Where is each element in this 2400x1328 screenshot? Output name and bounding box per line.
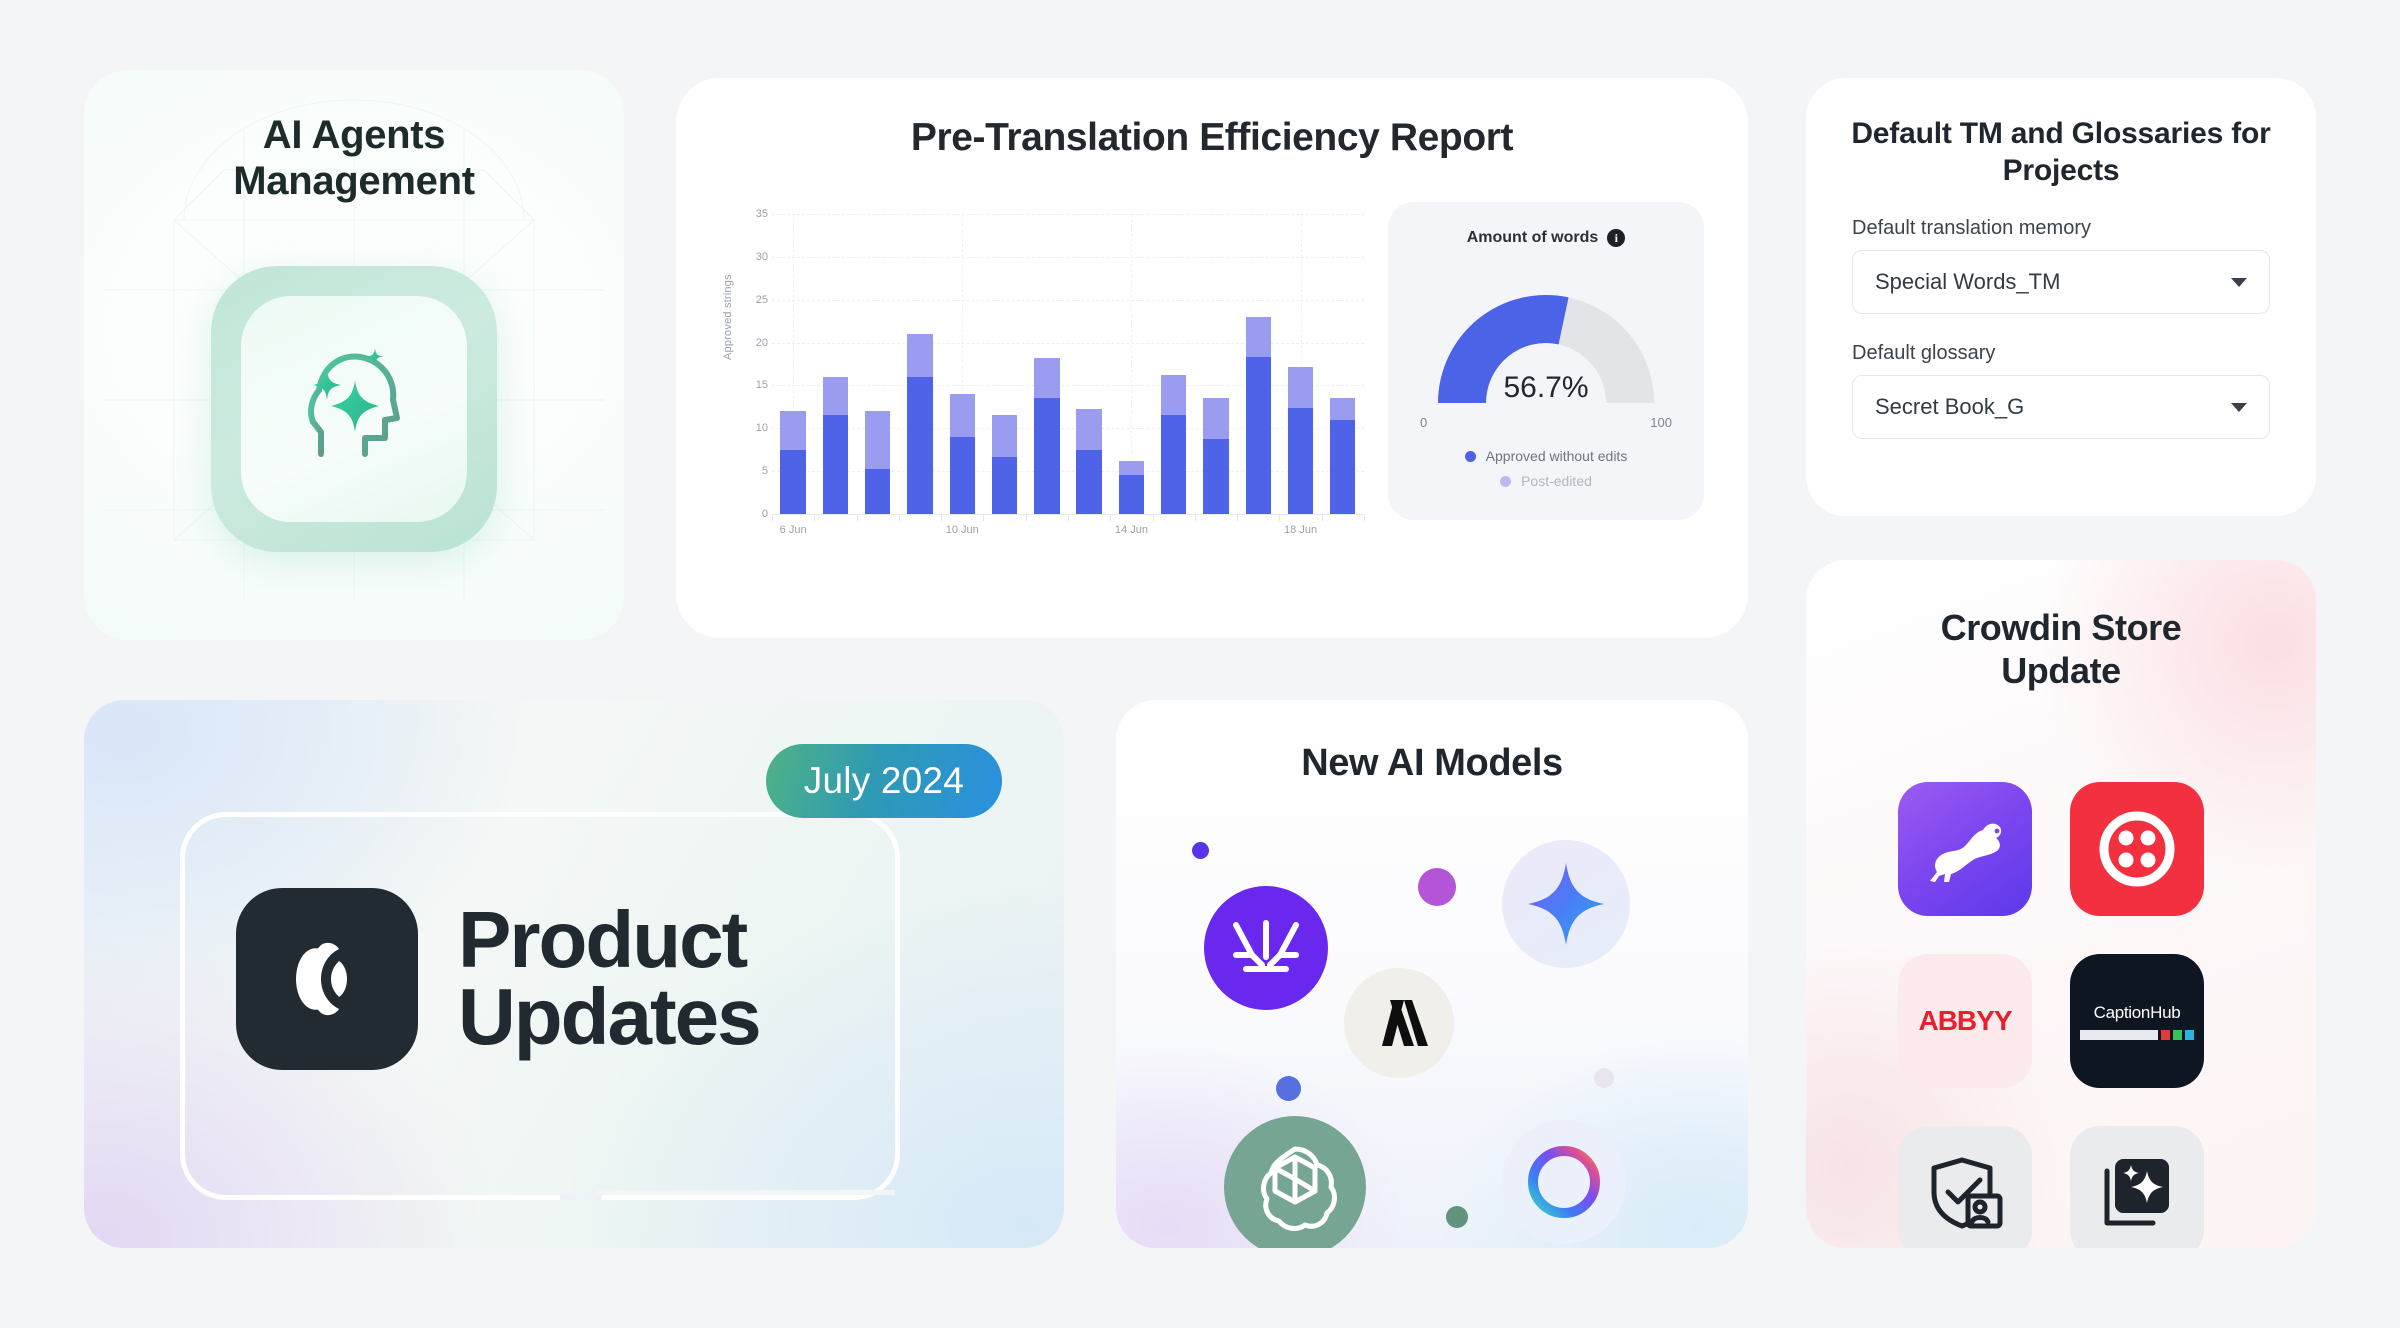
bar-segment-post-edited <box>823 377 848 416</box>
new-ai-models-title: New AI Models <box>1116 742 1748 785</box>
x-axis-tick <box>1110 515 1111 521</box>
crowdin-store-title-line-1: Crowdin Store <box>1862 606 2260 649</box>
product-updates-collage: AI Agents Management <box>0 0 2400 1328</box>
bar-slot[interactable] <box>1322 214 1364 514</box>
x-axis-label: 6 Jun <box>780 524 807 536</box>
bar-segment-approved <box>1203 439 1228 514</box>
abbyy-wordmark: ABBYY <box>1918 1005 2011 1037</box>
bar-segment-post-edited <box>907 334 932 377</box>
y-axis-tick: 25 <box>740 294 768 306</box>
decorative-dot-violet <box>1192 842 1209 859</box>
legend-item-post-edited: Post-edited <box>1388 473 1704 489</box>
info-icon[interactable]: i <box>1607 229 1625 247</box>
bar-segment-approved <box>1161 415 1186 514</box>
default-translation-memory-value: Special Words_TM <box>1875 269 2060 295</box>
ai-agents-management-card[interactable]: AI Agents Management <box>84 70 624 640</box>
pre-translation-efficiency-card[interactable]: Pre-Translation Efficiency Report Approv… <box>676 78 1748 638</box>
x-axis-tick <box>1195 515 1196 521</box>
default-translation-memory-field: Default translation memory Special Words… <box>1806 217 2316 314</box>
y-axis-ticks: 05101520253035 <box>740 214 768 514</box>
x-axis-tick <box>1279 515 1280 521</box>
decorative-dot-blue <box>1276 1076 1301 1101</box>
y-axis-tick: 20 <box>740 337 768 349</box>
gauge-legend: Approved without edits Post-edited <box>1388 448 1704 489</box>
stacked-bar[interactable] <box>780 411 805 514</box>
bar-slot[interactable] <box>1237 214 1279 514</box>
bar-segment-post-edited <box>1330 398 1355 419</box>
stacked-bar[interactable] <box>1076 409 1101 514</box>
sparkle-document-icon[interactable] <box>2070 1126 2204 1248</box>
bar-series-container <box>772 214 1364 514</box>
bar-segment-approved <box>992 457 1017 514</box>
bar-slot[interactable] <box>899 214 941 514</box>
bar-slot[interactable] <box>941 214 983 514</box>
gauge-value: 56.7% <box>1420 371 1672 405</box>
bar-segment-approved <box>865 469 890 514</box>
amount-of-words-gauge-panel[interactable]: Amount of words i 56.7% 0 100 <box>1388 202 1704 520</box>
captionhub-bar <box>2080 1030 2194 1040</box>
legend-label-approved: Approved without edits <box>1486 448 1628 464</box>
stacked-bar[interactable] <box>1161 375 1186 514</box>
y-axis-tick: 5 <box>740 465 768 477</box>
bar-segment-post-edited <box>992 415 1017 456</box>
bar-slot[interactable] <box>1153 214 1195 514</box>
decorative-dot-green <box>1446 1206 1468 1228</box>
captionhub-app-icon[interactable]: CaptionHub <box>2070 954 2204 1088</box>
x-axis-tick <box>1026 515 1027 521</box>
twilio-app-icon[interactable] <box>2070 782 2204 916</box>
bar-segment-approved <box>907 377 932 514</box>
new-ai-models-card[interactable]: New AI Models <box>1116 700 1748 1248</box>
bar-segment-post-edited <box>1203 398 1228 439</box>
bar-slot[interactable] <box>1279 214 1321 514</box>
bar-segment-post-edited <box>1034 358 1059 398</box>
gauge-min-label: 0 <box>1420 415 1427 430</box>
ai-agent-icon-shell <box>211 266 497 552</box>
stacked-bar[interactable] <box>865 411 890 514</box>
default-tm-glossaries-card[interactable]: Default TM and Glossaries for Projects D… <box>1806 78 2316 516</box>
ai-head-sparkle-icon <box>279 334 429 484</box>
captionhub-swatch-green <box>2173 1030 2182 1040</box>
y-axis-tick: 10 <box>740 422 768 434</box>
captionhub-content: CaptionHub <box>2070 1003 2204 1040</box>
gauge-title-text: Amount of words <box>1467 229 1599 247</box>
bar-slot[interactable] <box>857 214 899 514</box>
store-apps-grid: ABBYY CaptionHub <box>1898 782 2204 1248</box>
product-updates-title-line-1: Product <box>458 902 760 979</box>
legend-dot-post-edited <box>1500 476 1511 487</box>
product-updates-title: Product Updates <box>458 902 760 1056</box>
captionhub-bar-white <box>2080 1030 2158 1040</box>
product-updates-row: Product Updates <box>236 888 760 1070</box>
legend-dot-approved <box>1465 451 1476 462</box>
gemini-sparkle-icon <box>1502 840 1630 968</box>
bar-slot[interactable] <box>1026 214 1068 514</box>
crowdin-store-title: Crowdin Store Update <box>1806 560 2316 692</box>
legend-label-post-edited: Post-edited <box>1521 473 1592 489</box>
x-axis-tick <box>1153 515 1154 521</box>
default-glossary-select[interactable]: Secret Book_G <box>1852 375 2270 439</box>
ai-agents-title-line-2: Management <box>84 158 624 204</box>
bar-segment-approved <box>950 437 975 514</box>
x-axis-tick <box>857 515 858 521</box>
default-glossary-label: Default glossary <box>1852 342 2270 365</box>
y-axis-tick: 30 <box>740 251 768 263</box>
bar-segment-post-edited <box>950 394 975 437</box>
bar-segment-post-edited <box>865 411 890 468</box>
captionhub-swatch-red <box>2161 1030 2170 1040</box>
stacked-bar[interactable] <box>1034 358 1059 514</box>
bar-segment-approved <box>1034 398 1059 514</box>
stacked-bar[interactable] <box>907 334 932 514</box>
y-axis-label: Approved strings <box>722 274 734 360</box>
bar-segment-post-edited <box>1161 375 1186 415</box>
copilot-ring-icon <box>1502 1120 1626 1244</box>
stacked-bar[interactable] <box>1246 317 1271 514</box>
x-axis-tick <box>941 515 942 521</box>
y-axis-tick: 15 <box>740 379 768 391</box>
x-axis-labels: 6 Jun10 Jun14 Jun18 Jun <box>772 524 1364 544</box>
bar-segment-post-edited <box>1076 409 1101 449</box>
tm-card-title: Default TM and Glossaries for Projects <box>1806 78 2316 189</box>
shield-check-id-icon[interactable] <box>1898 1126 2032 1248</box>
zhipu-ai-logo-icon <box>1204 886 1328 1010</box>
stacked-bar[interactable] <box>1288 367 1313 514</box>
bar-segment-approved <box>1288 408 1313 514</box>
bar-segment-approved <box>1330 420 1355 514</box>
x-axis-label: 18 Jun <box>1284 524 1317 536</box>
ai-agents-title: AI Agents Management <box>84 112 624 204</box>
rabbit-app-icon[interactable] <box>1898 782 2032 916</box>
bar-segment-approved <box>1076 450 1101 514</box>
bar-chart[interactable]: Approved strings 05101520253035 6 Jun10 … <box>714 214 1364 574</box>
chart-body: Approved strings 05101520253035 6 Jun10 … <box>676 196 1748 638</box>
x-axis-tick <box>814 515 815 521</box>
bar-segment-approved <box>823 415 848 514</box>
ai-agent-icon-inner <box>241 296 467 522</box>
bar-segment-post-edited <box>780 411 805 450</box>
y-axis-tick: 0 <box>740 508 768 520</box>
x-axis-tick <box>1068 515 1069 521</box>
anthropic-claude-logo-icon <box>1344 968 1454 1078</box>
decorative-dot-grey <box>1594 1068 1614 1088</box>
gauge-scale: 0 100 <box>1420 415 1672 430</box>
bar-slot[interactable] <box>1110 214 1152 514</box>
bar-slot[interactable] <box>983 214 1025 514</box>
stacked-bar[interactable] <box>1330 398 1355 514</box>
gauge-title-row: Amount of words i <box>1388 229 1704 247</box>
bar-segment-post-edited <box>1119 461 1144 476</box>
bar-segment-post-edited <box>1246 317 1271 357</box>
x-axis-ticks <box>772 515 1364 522</box>
x-axis-label: 14 Jun <box>1115 524 1148 536</box>
bar-segment-approved <box>780 450 805 514</box>
stacked-bar[interactable] <box>1203 398 1228 514</box>
gauge-max-label: 100 <box>1650 415 1672 430</box>
default-glossary-field: Default glossary Secret Book_G <box>1806 342 2316 439</box>
decorative-frame-gap <box>560 1194 602 1200</box>
bar-slot[interactable] <box>1195 214 1237 514</box>
y-axis-tick: 35 <box>740 208 768 220</box>
stacked-bar[interactable] <box>823 377 848 514</box>
bar-slot[interactable] <box>814 214 856 514</box>
x-axis-tick <box>1237 515 1238 521</box>
product-updates-card[interactable]: July 2024 Product Updates <box>84 700 1064 1248</box>
decorative-dot-magenta <box>1418 868 1456 906</box>
chevron-down-icon <box>2231 403 2247 412</box>
captionhub-wordmark: CaptionHub <box>2080 1003 2194 1023</box>
chevron-down-icon <box>2231 278 2247 287</box>
x-axis-tick <box>899 515 900 521</box>
stacked-bar[interactable] <box>992 415 1017 514</box>
stacked-bar[interactable] <box>950 394 975 514</box>
legend-item-approved: Approved without edits <box>1388 448 1704 464</box>
x-axis-label: 10 Jun <box>946 524 979 536</box>
bar-slot[interactable] <box>772 214 814 514</box>
abbyy-app-icon[interactable]: ABBYY <box>1898 954 2032 1088</box>
ai-agents-title-line-1: AI Agents <box>84 112 624 158</box>
bar-segment-post-edited <box>1288 367 1313 408</box>
product-updates-title-line-2: Updates <box>458 979 760 1056</box>
x-axis-tick <box>772 515 773 521</box>
default-translation-memory-label: Default translation memory <box>1852 217 2270 240</box>
crowdin-store-title-line-2: Update <box>1862 649 2260 692</box>
bar-slot[interactable] <box>1068 214 1110 514</box>
bar-segment-approved <box>1246 357 1271 514</box>
captionhub-swatch-blue <box>2185 1030 2194 1040</box>
openai-logo-icon <box>1224 1116 1366 1248</box>
stacked-bar[interactable] <box>1119 461 1144 514</box>
chart-title: Pre-Translation Efficiency Report <box>676 116 1748 160</box>
gauge-arc: 56.7% <box>1420 269 1672 409</box>
crowdin-store-update-card[interactable]: Crowdin Store Update ABBY <box>1806 560 2316 1248</box>
x-axis-tick <box>1322 515 1323 521</box>
default-translation-memory-select[interactable]: Special Words_TM <box>1852 250 2270 314</box>
bar-segment-approved <box>1119 475 1144 514</box>
default-glossary-value: Secret Book_G <box>1875 394 2024 420</box>
month-badge: July 2024 <box>766 744 1002 818</box>
crowdin-logo-icon <box>236 888 418 1070</box>
x-axis-tick <box>1364 515 1365 521</box>
x-axis-tick <box>983 515 984 521</box>
